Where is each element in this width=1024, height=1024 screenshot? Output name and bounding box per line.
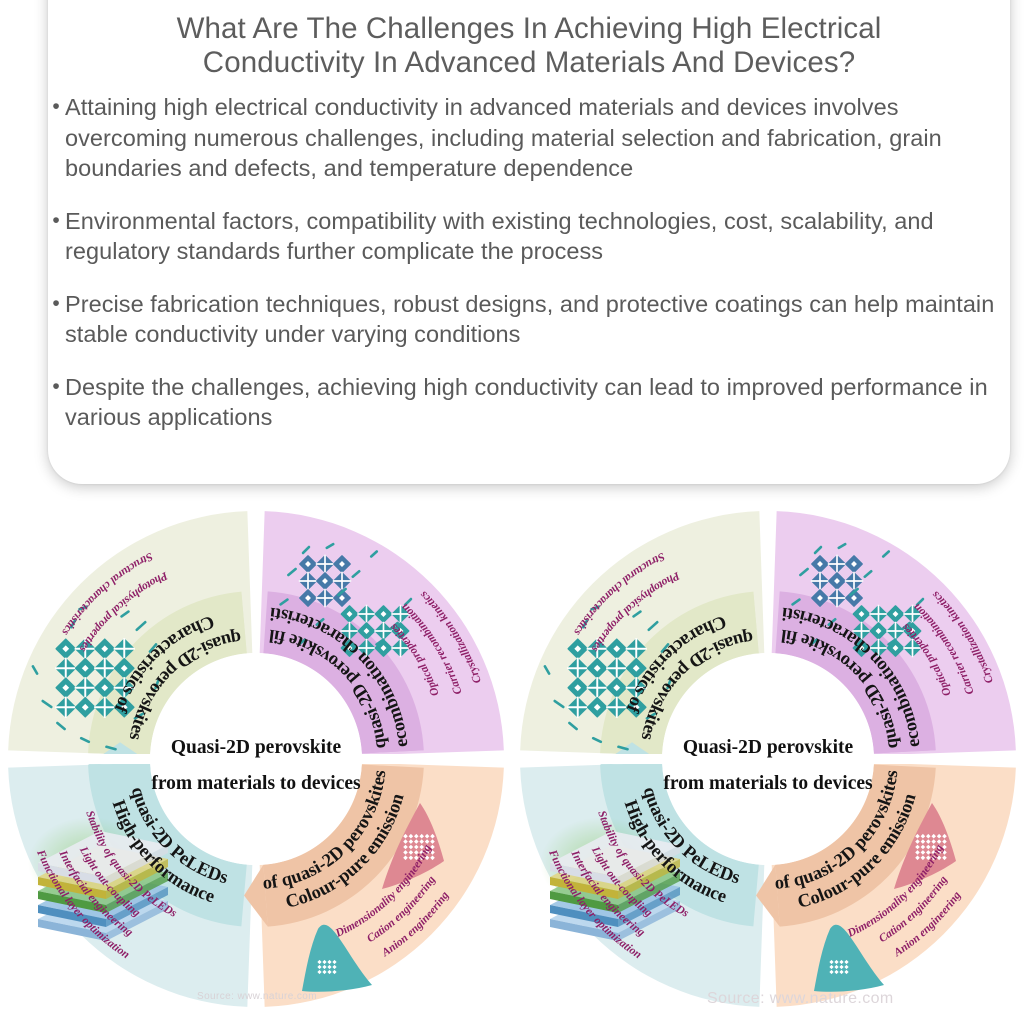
list-item-text: Precise fabrication techniques, robust d… [65, 289, 996, 350]
figure-left: Characteristics ofquasi-2D perovskitesSt… [0, 503, 512, 1024]
svg-text:from materials to devices: from materials to devices [151, 773, 361, 794]
figure-right: Characteristics ofquasi-2D perovskitesSt… [512, 503, 1024, 1024]
bullet-list: • Attaining high electrical conductivity… [48, 92, 1010, 433]
list-item: • Environmental factors, compatibility w… [48, 206, 996, 267]
list-item: • Precise fabrication techniques, robust… [48, 289, 996, 350]
bullet-marker-icon: • [48, 289, 64, 320]
source-attribution: Source: www.nature.com [197, 991, 317, 1002]
list-item-text: Environmental factors, compatibility wit… [65, 206, 996, 267]
list-item: • Attaining high electrical conductivity… [48, 92, 996, 184]
info-card: What Are The Challenges In Achieving Hig… [48, 0, 1010, 484]
list-item: • Despite the challenges, achieving high… [48, 372, 996, 433]
list-item-text: Despite the challenges, achieving high c… [65, 372, 996, 433]
page-title: What Are The Challenges In Achieving Hig… [48, 12, 1010, 80]
source-attribution: Source: www.nature.com [707, 990, 894, 1008]
page-title-line-1: What Are The Challenges In Achieving Hig… [78, 12, 980, 46]
page-root: What Are The Challenges In Achieving Hig… [0, 0, 1024, 1024]
svg-text:Quasi-2D perovskite: Quasi-2D perovskite [683, 737, 854, 758]
bullet-marker-icon: • [48, 92, 64, 123]
list-item-text: Attaining high electrical conductivity i… [65, 92, 996, 184]
page-title-line-2: Conductivity In Advanced Materials And D… [78, 46, 980, 80]
bullet-marker-icon: • [48, 372, 64, 403]
svg-text:Quasi-2D perovskite: Quasi-2D perovskite [171, 737, 342, 758]
quasi-2d-perovskite-wheel-diagram: Characteristics ofquasi-2D perovskitesSt… [0, 503, 512, 1015]
svg-text:from materials to devices: from materials to devices [663, 773, 873, 794]
bullet-marker-icon: • [48, 206, 64, 237]
figure-row: Characteristics ofquasi-2D perovskitesSt… [0, 503, 1024, 1024]
quasi-2d-perovskite-wheel-diagram: Characteristics ofquasi-2D perovskitesSt… [512, 503, 1024, 1015]
